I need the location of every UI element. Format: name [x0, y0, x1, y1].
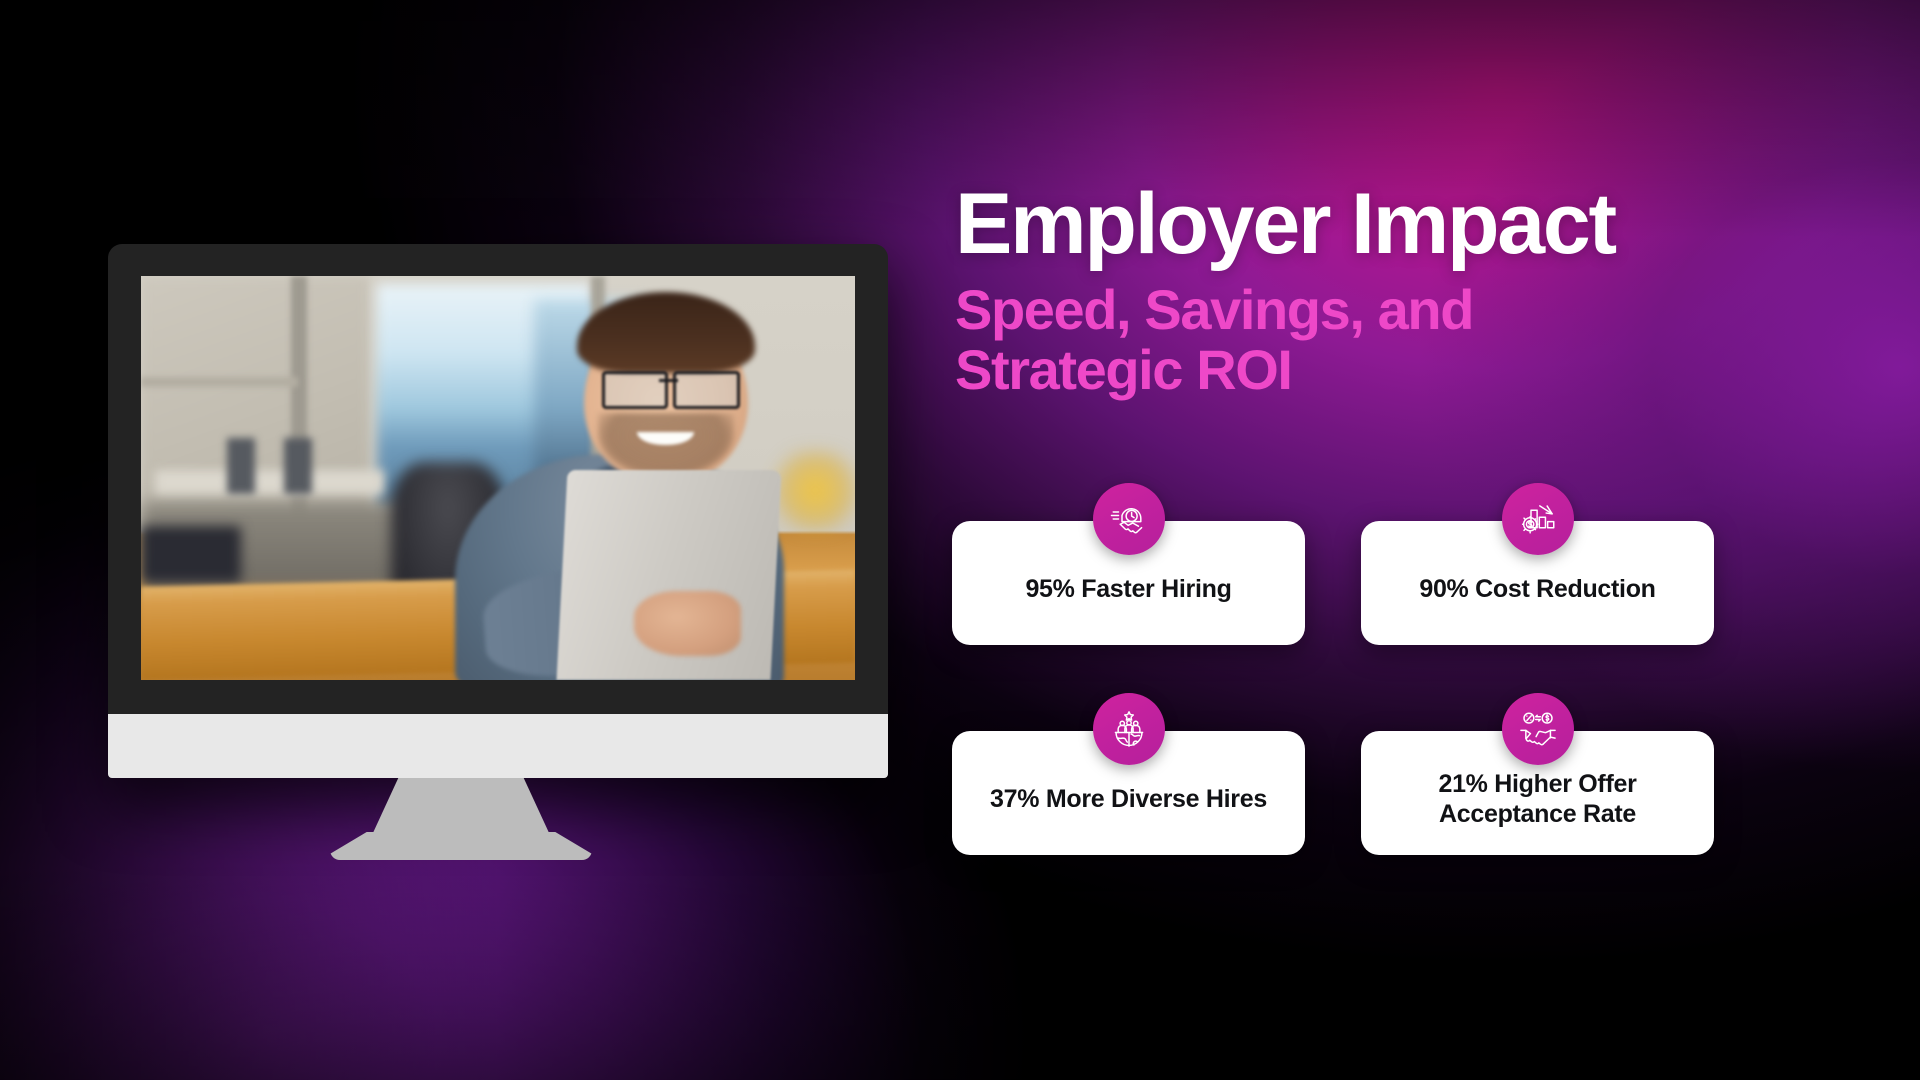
stat-label: 95% Faster Hiring	[1025, 574, 1231, 604]
headline-block: Employer Impact Speed, Savings, and Stra…	[955, 182, 1745, 399]
photo-shelf	[141, 377, 298, 387]
percent-dollar-handshake-icon	[1502, 693, 1574, 765]
monitor-bezel	[108, 244, 888, 778]
monitor-chin	[108, 714, 888, 778]
stat-label: 90% Cost Reduction	[1419, 574, 1655, 604]
photo-glasses-right	[673, 371, 740, 409]
photo-wall	[141, 276, 369, 535]
slide-canvas: Employer Impact Speed, Savings, and Stra…	[0, 0, 1920, 1080]
photo-background-desk	[155, 470, 383, 494]
office-photo	[141, 276, 855, 680]
stat-card-faster-hiring[interactable]: 95% Faster Hiring	[952, 521, 1305, 645]
stat-card-cost-reduction[interactable]: 90% Cost Reduction	[1361, 521, 1714, 645]
photo-background-monitor-2	[284, 438, 313, 495]
globe-diverse-people-star-icon	[1093, 693, 1165, 765]
monitor-screen	[141, 276, 855, 680]
stats-grid: 95% Faster Hiring 90% Cost Reduction	[952, 521, 1722, 855]
photo-glasses-bridge	[659, 379, 678, 392]
page-title: Employer Impact	[955, 182, 1745, 266]
photo-dark-object	[141, 526, 241, 583]
stat-label: 37% More Diverse Hires	[990, 784, 1267, 814]
photo-background-monitor-1	[227, 438, 256, 495]
stat-card-offer-acceptance[interactable]: 21% Higher Offer Acceptance Rate	[1361, 731, 1714, 855]
monitor-illustration	[108, 244, 888, 778]
photo-glasses-left	[602, 371, 669, 409]
stat-label: 21% Higher Offer Acceptance Rate	[1383, 769, 1692, 829]
photo-warm-light	[769, 450, 855, 531]
clock-handshake-icon	[1093, 483, 1165, 555]
stat-card-diverse-hires[interactable]: 37% More Diverse Hires	[952, 731, 1305, 855]
page-subtitle: Speed, Savings, and Strategic ROI	[955, 280, 1595, 399]
monitor-stand-base	[330, 832, 592, 860]
cost-chart-down-gear-dollar-icon	[1502, 483, 1574, 555]
photo-person-hand	[634, 591, 741, 656]
